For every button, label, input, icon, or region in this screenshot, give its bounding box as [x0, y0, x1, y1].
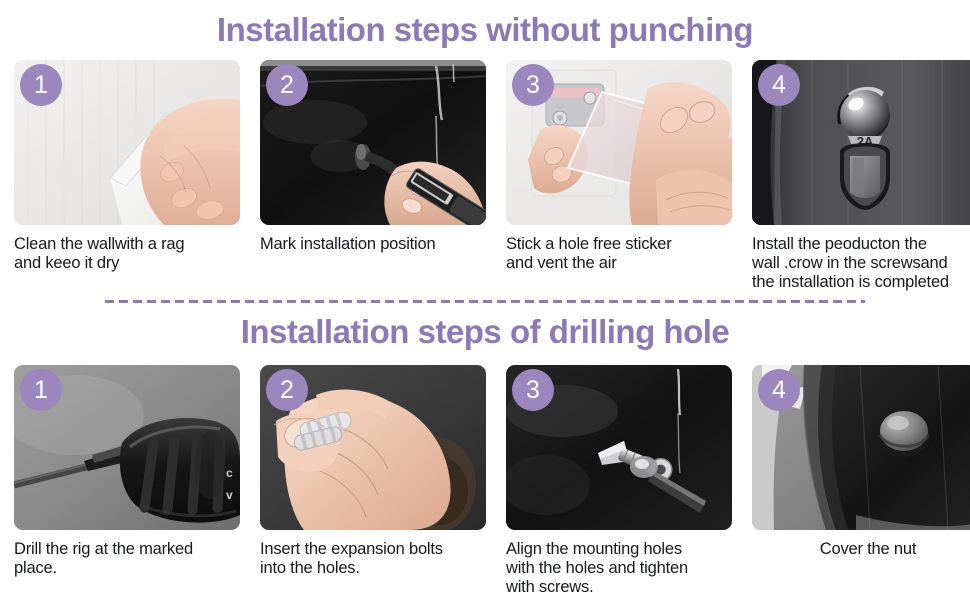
photo-electric-drill-on-wall: c v 1 [14, 365, 240, 530]
caption-line: Install the peoducton the [752, 235, 970, 254]
step-card-2-bottom: 2 Insert the expansion bolts into the ho… [260, 365, 492, 597]
steps-row-drilling-hole: c v 1 Drill the rig at the marked place. [0, 365, 970, 597]
caption-line: Cover the nut [752, 540, 970, 559]
step-number-badge: 2 [266, 64, 308, 106]
caption-line: and vent the air [506, 254, 738, 273]
photo-wipe-wall-with-cloth: 1 [14, 60, 240, 225]
section-title-drilling-hole: Installation steps of drilling hole [0, 312, 970, 352]
step-number-badge: 1 [20, 64, 62, 106]
step-number-badge: 3 [512, 369, 554, 411]
step-card-4-bottom: 4 Cover the nut [752, 365, 970, 597]
step-caption-1-bottom: Drill the rig at the marked place. [14, 540, 246, 578]
step-caption-3-bottom: Align the mounting holes with the holes … [506, 540, 738, 597]
step-caption-2-top: Mark installation position [260, 235, 492, 254]
step-number-badge: 4 [758, 369, 800, 411]
caption-line: Stick a hole free sticker [506, 235, 738, 254]
section-title-without-punching: Installation steps without punching [0, 10, 970, 50]
step-card-1-top: 1 Clean the wallwith a rag and keeo it d… [14, 60, 246, 292]
step-card-3-top: 3 Stick a hole free sticker and vent the… [506, 60, 738, 292]
caption-line: Align the mounting holes [506, 540, 738, 559]
step-number-badge: 1 [20, 369, 62, 411]
step-card-4-top: 2A 4 Install the peoducton the wall .cro… [752, 60, 970, 292]
caption-line: into the holes. [260, 559, 492, 578]
svg-text:v: v [226, 488, 233, 502]
caption-line: Mark installation position [260, 235, 492, 254]
step-caption-2-bottom: Insert the expansion bolts into the hole… [260, 540, 492, 578]
step-number-badge: 3 [512, 64, 554, 106]
steps-row-without-punching: 1 Clean the wallwith a rag and keeo it d… [0, 60, 970, 292]
photo-mounted-hook-on-wall: 2A 4 [752, 60, 970, 225]
caption-line: Drill the rig at the marked [14, 540, 246, 559]
step-caption-1-top: Clean the wallwith a rag and keeo it dry [14, 235, 246, 273]
caption-line: wall .crow in the screwsand [752, 254, 970, 273]
photo-screw-in-wall-anchor: 3 [506, 365, 732, 530]
step-card-3-bottom: 3 Align the mounting holes with the hole… [506, 365, 738, 597]
caption-line: with screws. [506, 578, 738, 597]
step-caption-4-bottom: Cover the nut [752, 540, 970, 559]
caption-line: Insert the expansion bolts [260, 540, 492, 559]
caption-line: place. [14, 559, 246, 578]
step-number-badge: 4 [758, 64, 800, 106]
svg-text:c: c [226, 466, 233, 480]
caption-line: and keeo it dry [14, 254, 246, 273]
photo-hand-holding-expansion-bolts: 2 [260, 365, 486, 530]
caption-line: with the holes and tighten [506, 559, 738, 578]
caption-line: the installation is completed [752, 273, 970, 292]
caption-line: Clean the wallwith a rag [14, 235, 246, 254]
photo-apply-adhesive-sticker: 3 [506, 60, 732, 225]
step-card-1-bottom: c v 1 Drill the rig at the marked place. [14, 365, 246, 597]
step-caption-4-top: Install the peoducton the wall .crow in … [752, 235, 970, 292]
photo-mark-position-with-marker: 2 [260, 60, 486, 225]
photo-cover-the-nut-cap: 4 [752, 365, 970, 530]
step-caption-3-top: Stick a hole free sticker and vent the a… [506, 235, 738, 273]
section-divider-dashed [105, 300, 865, 303]
step-number-badge: 2 [266, 369, 308, 411]
step-card-2-top: 2 Mark installation position [260, 60, 492, 292]
